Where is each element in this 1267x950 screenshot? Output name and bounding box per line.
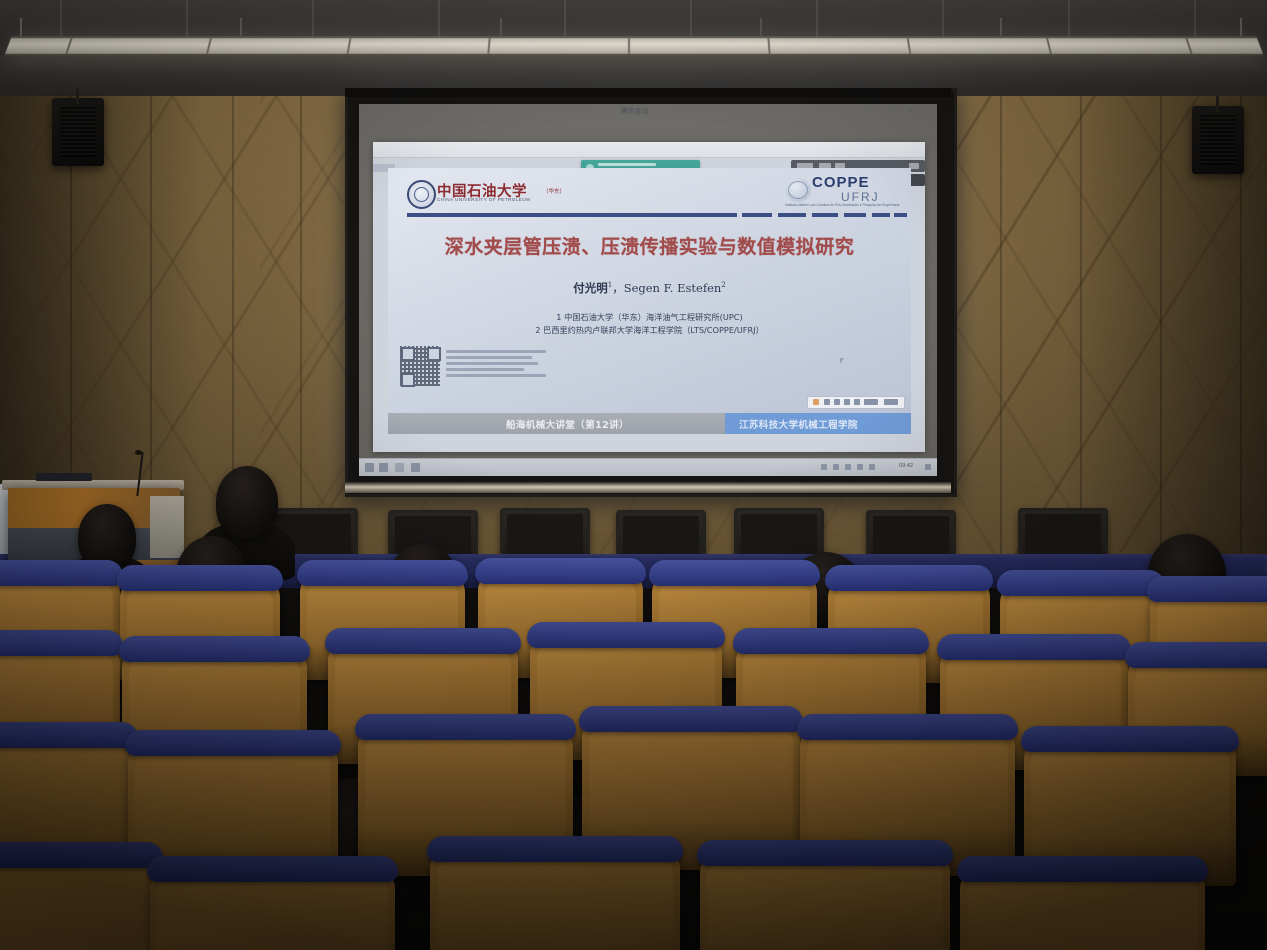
ime-chinese-icon[interactable] xyxy=(824,399,830,405)
minimize-button[interactable]: – xyxy=(867,108,874,115)
light-segment xyxy=(487,38,490,54)
contact-line-5 xyxy=(446,374,546,377)
seat-back-inner xyxy=(437,858,673,950)
light-hanger xyxy=(20,18,22,36)
light-segment xyxy=(206,38,212,54)
windows-taskbar[interactable]: 09:42 xyxy=(359,458,937,476)
coppe-caption: Instituto Alberto Luiz Coimbra de Pós-Gr… xyxy=(785,203,903,207)
microphone-head-icon xyxy=(135,450,142,455)
window-titlebar xyxy=(373,142,925,158)
contact-line-3 xyxy=(446,362,538,365)
seat-headrest xyxy=(325,628,521,654)
tray-volume-icon[interactable] xyxy=(845,464,851,470)
ime-logo-icon[interactable] xyxy=(813,399,819,405)
taskbar-taskview-icon[interactable] xyxy=(395,463,404,472)
tray-network-icon[interactable] xyxy=(833,464,839,470)
light-hanger xyxy=(240,18,242,36)
affiliation-2: 2 巴西里约热内卢联邦大学海洋工程学院（LTS/COPPE/UFRJ） xyxy=(388,324,911,336)
audience-seat xyxy=(150,856,395,950)
author-separator: ， xyxy=(612,281,624,295)
audience-seat xyxy=(430,836,680,950)
light-segment xyxy=(628,38,630,54)
seat-headrest xyxy=(825,565,993,591)
light-segment xyxy=(347,38,352,54)
mouse-cursor xyxy=(840,358,844,364)
close-button[interactable]: ✕ xyxy=(907,108,914,115)
tray-chevron-icon[interactable] xyxy=(821,464,827,470)
ime-keyboard-icon[interactable] xyxy=(864,399,878,405)
presentation-slide: 中国石油大学 （华东） CHINA UNIVERSITY OF PETROLEU… xyxy=(388,168,911,413)
projected-desktop: 腾讯会议 – □ ✕ 会议中 · 演讲者视图 中国石油大学 xyxy=(359,104,937,476)
seat-headrest xyxy=(355,714,576,740)
slide-rule-solid xyxy=(407,213,737,217)
seat-headrest xyxy=(649,560,820,586)
light-hanger xyxy=(760,18,762,36)
banner-line-1 xyxy=(598,163,656,166)
seat-headrest xyxy=(937,634,1131,660)
slide-footer-banner: 船海机械大讲堂（第12讲） 江苏科技大学机械工程学院 xyxy=(388,413,911,434)
light-segment xyxy=(907,38,912,54)
contact-line-2 xyxy=(446,356,532,359)
cup-name-suffix: （华东） xyxy=(543,187,565,195)
contact-info-lines xyxy=(446,350,546,380)
ime-punctuation-icon[interactable] xyxy=(834,399,840,405)
seat-headrest xyxy=(1125,642,1267,668)
seat-headrest xyxy=(733,628,929,654)
ime-shape-icon[interactable] xyxy=(844,399,850,405)
light-segment xyxy=(65,38,72,54)
contact-line-4 xyxy=(446,368,524,371)
seat-back-inner xyxy=(967,878,1198,950)
affiliation-1: 1 中国石油大学（华东）海洋油气工程研究所(UPC) xyxy=(388,311,911,323)
coppe-ufrj: UFRJ xyxy=(841,190,880,204)
maximize-button[interactable]: □ xyxy=(887,108,894,115)
slide-rule-dash-6 xyxy=(894,213,907,217)
taskbar-search-icon[interactable] xyxy=(379,463,388,472)
contact-line-1 xyxy=(446,350,546,353)
wall-speaker-right xyxy=(1192,106,1244,174)
seat-headrest xyxy=(579,706,803,732)
light-hanger xyxy=(500,18,502,36)
seat-headrest xyxy=(997,570,1165,596)
seat-headrest xyxy=(957,856,1208,882)
taskbar-clock[interactable]: 09:42 xyxy=(899,463,913,469)
tray-ime-icon[interactable] xyxy=(869,464,875,470)
cup-logo: 中国石油大学 （华东） CHINA UNIVERSITY OF PETROLEU… xyxy=(407,178,607,208)
slide-rule-dash-3 xyxy=(812,213,838,217)
seat-headrest xyxy=(125,730,341,756)
audience-seat xyxy=(0,842,160,950)
audience-seat xyxy=(960,856,1205,950)
audience-seat xyxy=(700,840,950,950)
seat-headrest xyxy=(0,630,123,656)
ime-toolbar[interactable] xyxy=(807,396,905,409)
seat-back-inner xyxy=(707,862,943,950)
speaker-mount-left xyxy=(76,88,79,104)
tray-battery-icon[interactable] xyxy=(857,464,863,470)
cup-name-en: CHINA UNIVERSITY OF PETROLEUM xyxy=(437,197,530,202)
seat-headrest xyxy=(427,836,683,862)
seat-headrest xyxy=(297,560,468,586)
footer-right-text: 江苏科技大学机械工程学院 xyxy=(739,417,858,431)
light-segment xyxy=(1046,38,1052,54)
footer-right-box: 江苏科技大学机械工程学院 xyxy=(725,413,911,434)
author-secondary: Segen F. Estefen xyxy=(624,281,722,295)
seat-headrest xyxy=(0,842,163,868)
light-segment xyxy=(1185,38,1192,54)
speaker-mount-right xyxy=(1216,96,1219,112)
seat-headrest xyxy=(119,636,310,662)
seat-headrest xyxy=(147,856,398,882)
seat-headrest xyxy=(475,558,646,584)
light-hanger xyxy=(1240,18,1242,36)
author-primary: 付光明 xyxy=(573,281,608,295)
ime-settings-icon[interactable] xyxy=(884,399,898,405)
slide-title: 深水夹层管压溃、压溃传播实验与数值模拟研究 xyxy=(388,232,911,259)
coppe-globe-icon xyxy=(785,178,811,202)
lecture-hall-photo: 腾讯会议 – □ ✕ 会议中 · 演讲者视图 中国石油大学 xyxy=(0,0,1267,950)
seat-headrest xyxy=(0,722,138,748)
show-desktop-icon[interactable] xyxy=(925,464,931,470)
slide-rule-dash-2 xyxy=(778,213,806,217)
start-button-icon[interactable] xyxy=(365,463,374,472)
coppe-logo: COPPE UFRJ Instituto Alberto Luiz Coimbr… xyxy=(785,175,903,211)
contact-qr-code xyxy=(400,346,440,386)
screen-top-bar xyxy=(345,88,951,97)
window-title: 腾讯会议 xyxy=(359,105,911,115)
person-head xyxy=(216,466,278,538)
slide-rule-dash-1 xyxy=(742,213,772,217)
seat-headrest xyxy=(117,565,283,591)
podium-side-panel xyxy=(150,496,184,558)
slide-authors: 付光明1，Segen F. Estefen2 xyxy=(388,280,911,296)
ime-emoji-icon[interactable] xyxy=(854,399,860,405)
author-secondary-sup: 2 xyxy=(721,281,725,289)
taskbar-app-icon[interactable] xyxy=(411,463,420,472)
wall-speaker-left xyxy=(52,98,104,166)
seat-headrest xyxy=(527,622,725,648)
screen-bottom-bar xyxy=(345,482,951,493)
slide-rule-dash-5 xyxy=(872,213,890,217)
seat-back-inner xyxy=(0,864,153,950)
slide-rule-dash-4 xyxy=(844,213,866,217)
seat-headrest xyxy=(697,840,953,866)
coppe-name: COPPE xyxy=(812,176,870,190)
seat-headrest xyxy=(0,560,123,586)
footer-left-text: 船海机械大讲堂（第12讲） xyxy=(506,417,629,431)
seat-headrest xyxy=(797,714,1018,740)
seat-headrest xyxy=(1147,576,1267,602)
seat-headrest xyxy=(1021,726,1239,752)
light-segment xyxy=(767,38,770,54)
university-seal-icon xyxy=(407,180,436,209)
light-hanger xyxy=(1000,18,1002,36)
ceiling-light-strip xyxy=(4,36,1263,55)
podium-laptop xyxy=(36,473,92,481)
seat-back-inner xyxy=(157,878,388,950)
